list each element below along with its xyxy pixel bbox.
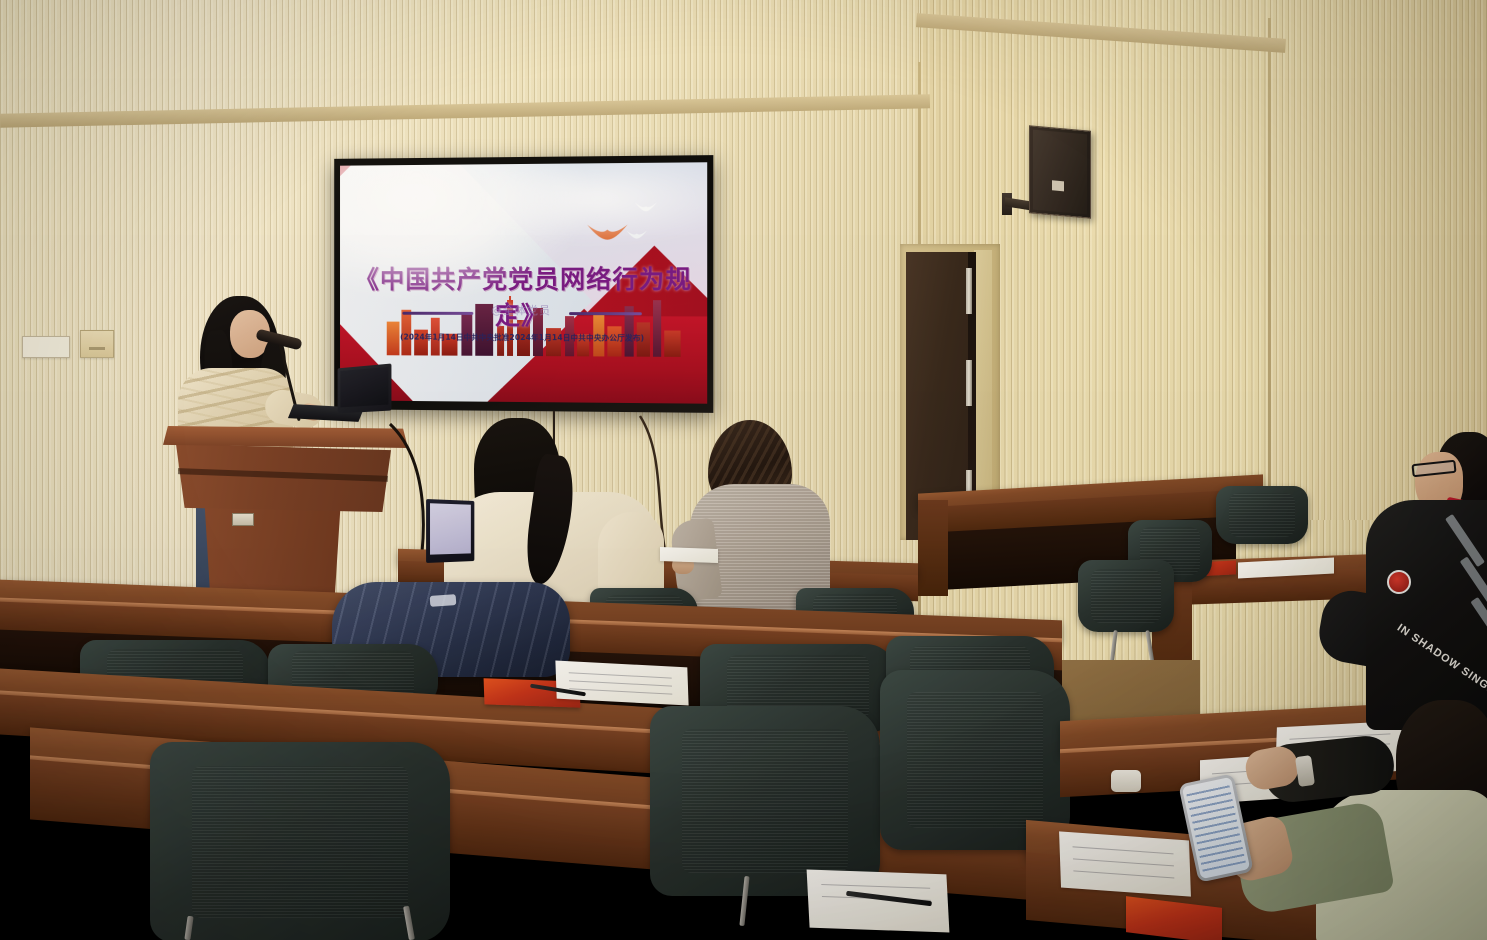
document-paper[interactable] <box>1059 831 1191 896</box>
outlet-slot <box>89 347 105 350</box>
attendee-laptop[interactable] <box>426 499 474 563</box>
back-desk-side <box>918 500 948 596</box>
screen-glare <box>448 162 708 244</box>
meeting-room-photo: 《中国共产党党员网络行为规定》 @全体党员 (2024年1月14日中共中央批准2… <box>0 0 1487 940</box>
lectern-nameplate <box>232 513 254 526</box>
speaker-logo-icon <box>1052 180 1064 191</box>
cup[interactable] <box>1111 770 1141 792</box>
document-paper[interactable] <box>660 547 718 563</box>
phone-screen-text <box>1186 784 1246 871</box>
jacket-badge-icon <box>1387 570 1411 594</box>
slide-date-line: (2024年1月14日中共中央批准2024年1月14日中共中央办公厅发布) <box>340 331 707 344</box>
jacket-logo-icon <box>430 594 457 607</box>
wall-switch-plate[interactable] <box>22 336 70 358</box>
lectern-top <box>163 426 408 448</box>
door-hinge-icon <box>966 360 972 406</box>
speaker-face <box>1033 130 1087 215</box>
office-chair[interactable] <box>1216 486 1308 544</box>
slide-subtitle: @全体党员 <box>340 302 707 319</box>
office-chair[interactable] <box>650 706 880 896</box>
wall-speaker <box>1029 125 1091 218</box>
wall-outlet-plate[interactable] <box>80 330 114 358</box>
door-hinge-icon <box>966 268 972 314</box>
office-chair[interactable] <box>1078 560 1174 632</box>
slide-canvas: 《中国共产党党员网络行为规定》 @全体党员 (2024年1月14日中共中央批准2… <box>340 162 707 403</box>
lectern-column <box>200 500 345 595</box>
document-paper[interactable] <box>555 660 688 705</box>
wall-corner-edge <box>1268 18 1271 518</box>
presenter-laptop[interactable] <box>338 364 392 414</box>
